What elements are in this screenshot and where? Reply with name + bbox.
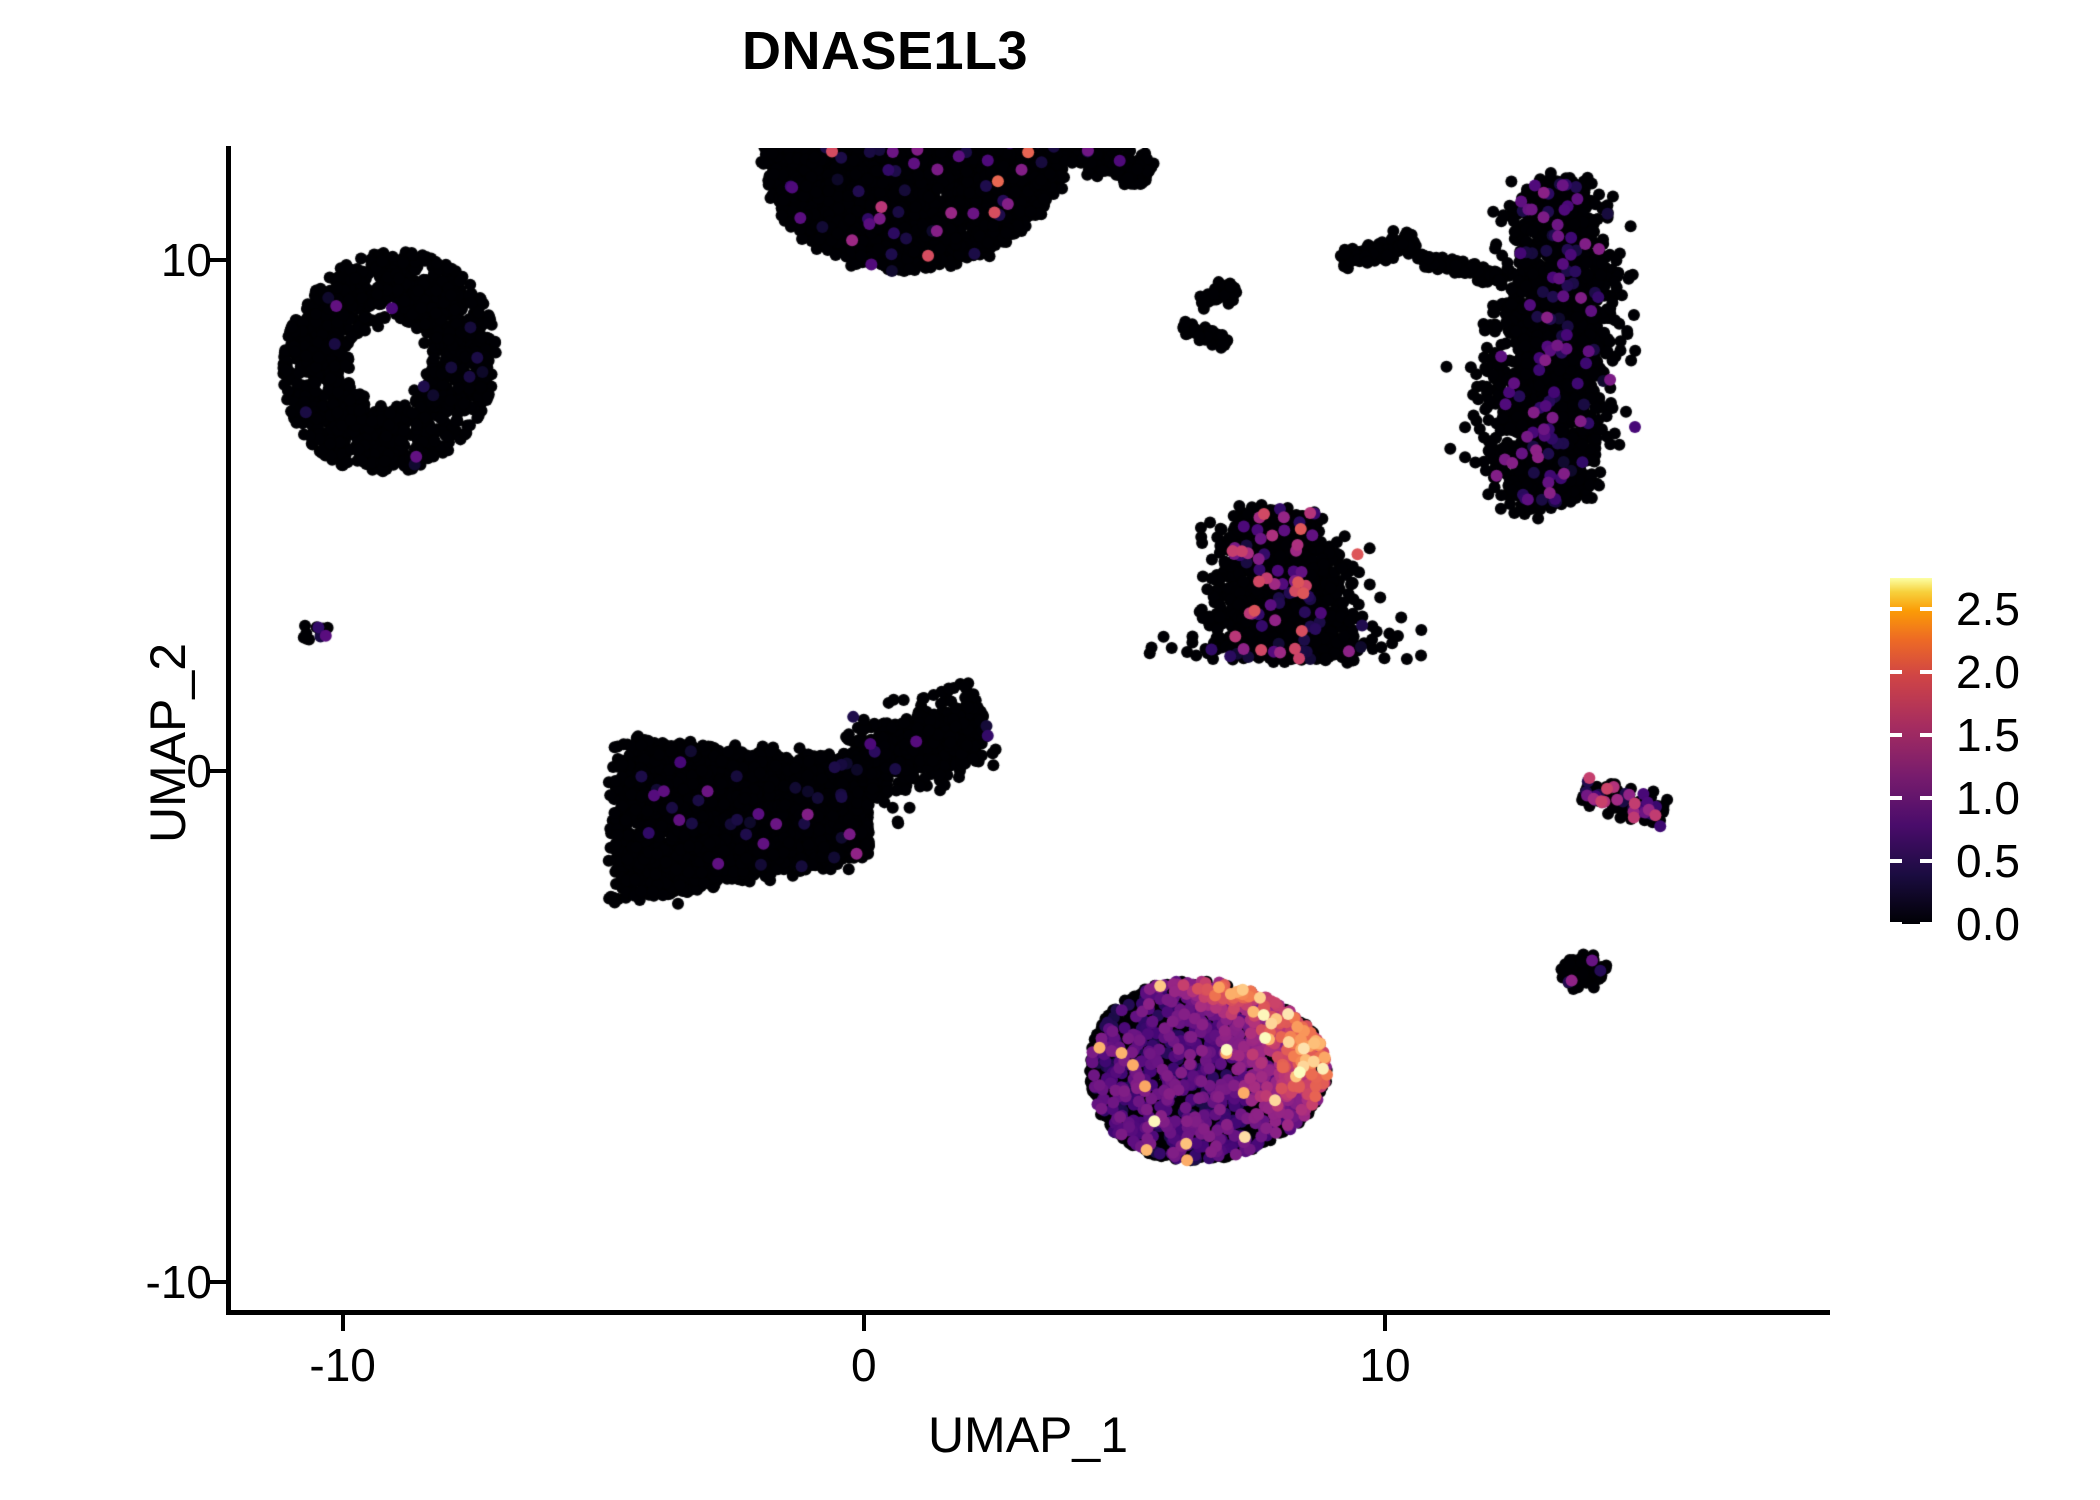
page-title: DNASE1L3: [0, 22, 1770, 81]
x-tick-label: 0: [764, 1342, 964, 1388]
x-tick-mark: [862, 1314, 866, 1331]
colorbar-tick-mark: [1920, 733, 1932, 737]
colorbar-tick-mark: [1920, 922, 1932, 926]
colorbar-gradient: [1890, 578, 1932, 924]
colorbar-tick-mark: [1890, 607, 1902, 611]
colorbar-tick-label: 2.0: [1956, 649, 2020, 695]
x-tick-label: 10: [1285, 1342, 1485, 1388]
colorbar-tick-mark: [1920, 796, 1932, 800]
y-tick-label: -10: [146, 1259, 212, 1305]
scatter-plot-canvas: [228, 148, 1828, 1308]
colorbar-tick-mark: [1890, 733, 1902, 737]
plot-panel: [228, 148, 1828, 1308]
y-tick-label: 10: [161, 237, 212, 283]
x-axis-label: UMAP_1: [228, 1406, 1828, 1464]
x-tick-mark: [341, 1314, 345, 1331]
chart-root: DNASE1L3 -10010-10010 UMAP_1 UMAP_2 0.00…: [0, 0, 2100, 1500]
y-axis-line: [226, 146, 231, 1314]
y-axis-label: UMAP_2: [139, 293, 197, 1193]
colorbar-tick-mark: [1920, 670, 1932, 674]
x-axis-line: [226, 1310, 1830, 1315]
colorbar-tick-mark: [1920, 859, 1932, 863]
x-tick-label: -10: [243, 1342, 443, 1388]
colorbar-tick-label: 0.5: [1956, 838, 2020, 884]
colorbar-tick-mark: [1920, 607, 1932, 611]
colorbar-tick-label: 2.5: [1956, 586, 2020, 632]
colorbar-tick-mark: [1890, 859, 1902, 863]
colorbar-tick-mark: [1890, 670, 1902, 674]
colorbar-legend: 0.00.51.01.52.02.5: [1890, 578, 2080, 950]
colorbar-tick-label: 1.0: [1956, 775, 2020, 821]
colorbar-tick-label: 1.5: [1956, 712, 2020, 758]
x-tick-mark: [1383, 1314, 1387, 1331]
colorbar-tick-mark: [1890, 796, 1902, 800]
colorbar-tick-mark: [1890, 922, 1902, 926]
colorbar-tick-label: 0.0: [1956, 901, 2020, 947]
